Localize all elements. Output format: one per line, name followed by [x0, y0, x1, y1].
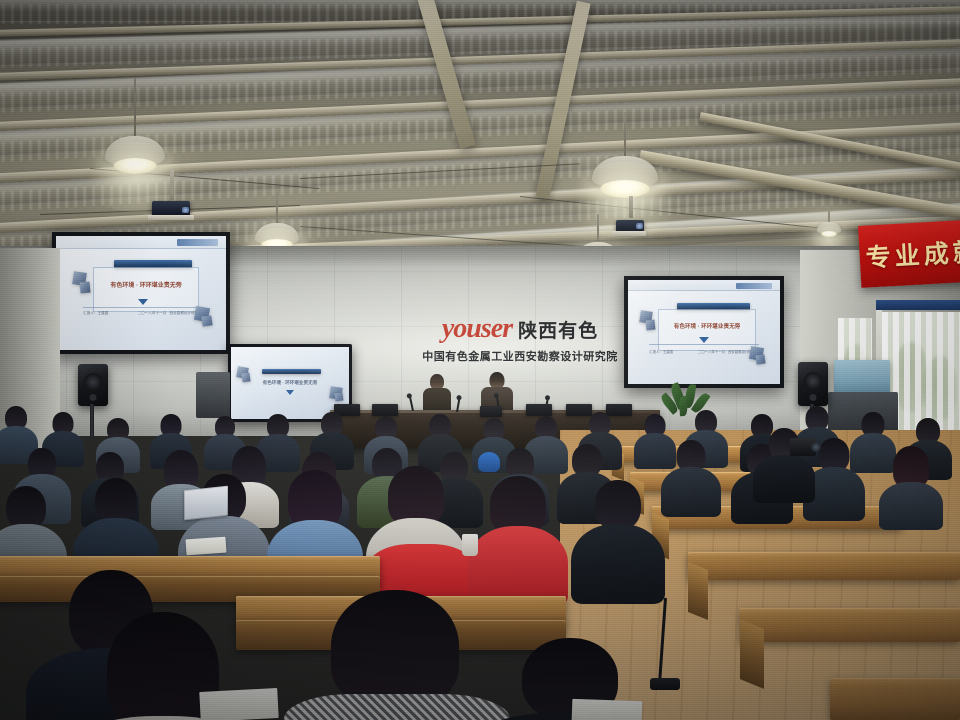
- red-banner: 专业成就基: [858, 219, 960, 287]
- ceiling-projector: [616, 196, 646, 232]
- bench-desk-side: [740, 619, 764, 689]
- paper-sheet: [185, 537, 226, 556]
- slide-right: 有色环境 · 环环堪业责无旁 汇报人：王建国 二〇一八年十一月 · 西安勘察设计…: [628, 280, 780, 384]
- slide-title: 有色环境 · 环环堪业责无旁: [658, 322, 755, 330]
- left-speaker: [78, 364, 108, 406]
- slide-title: 有色环境 · 环环堪业责无旁: [93, 280, 198, 289]
- bench-desk-side: [688, 562, 708, 620]
- window-header-band: [876, 300, 960, 310]
- microphone: [409, 396, 414, 411]
- paper-sheet: [199, 688, 278, 720]
- slide-caption-right: 二〇一八年十一月 · 西安勘察设计研究院: [138, 311, 202, 316]
- logo-brand-chinese: 陕西有色: [518, 322, 598, 341]
- audience-member: [476, 452, 502, 476]
- blue-cabinet: [834, 360, 890, 394]
- screen-right[interactable]: 有色环境 · 环环堪业责无旁 汇报人：王建国 二〇一八年十一月 · 西安勘察设计…: [624, 276, 784, 388]
- slide-title: 有色环境 · 环环堪业责无旁: [252, 380, 328, 386]
- left-speaker-stand: [90, 404, 94, 438]
- desk-monitor: [526, 404, 552, 416]
- presenter-left: [422, 374, 452, 414]
- cup: [462, 534, 478, 556]
- logo-subtitle: 中国有色金属工业西安勘察设计研究院: [390, 348, 650, 364]
- bench-desk: [688, 552, 960, 580]
- foreground-person: [300, 590, 490, 720]
- laptop: [184, 486, 228, 521]
- paper-sheet: [572, 699, 643, 720]
- slide-left: 有色环境 · 环环堪业责无旁 汇报人：王建国 二〇一八年十一月 · 西安勘察设计…: [56, 236, 226, 350]
- audience-member: [372, 466, 460, 594]
- desk-monitor: [372, 404, 398, 416]
- tripod-foot: [650, 678, 680, 690]
- slide-caption-left: 汇报人：王建国: [83, 311, 108, 316]
- banner-text: 专业成就基: [865, 231, 960, 275]
- wall-panel-left: [196, 372, 230, 418]
- bench-desk: [740, 608, 960, 642]
- logo-brand-latin: youser: [442, 315, 512, 343]
- audience-member: [882, 446, 940, 526]
- wall-logo: youser 陕西有色 中国有色金属工业西安勘察设计研究院: [390, 315, 650, 364]
- conference-hall-photo: youser 陕西有色 中国有色金属工业西安勘察设计研究院 有色环境 · 环环堪…: [0, 0, 960, 720]
- bench-desk: [830, 678, 960, 720]
- audience-member: [576, 480, 660, 600]
- audience-member: [664, 440, 718, 516]
- audience-member: [474, 476, 562, 600]
- camera: [790, 438, 816, 456]
- slide-caption-left: 汇报人：王建国: [649, 349, 673, 354]
- desk-monitor: [480, 406, 502, 417]
- screen-left[interactable]: 有色环境 · 环环堪业责无旁 汇报人：王建国 二〇一八年十一月 · 西安勘察设计…: [52, 232, 230, 354]
- ceiling-projector: [152, 170, 192, 216]
- right-speaker: [798, 362, 828, 406]
